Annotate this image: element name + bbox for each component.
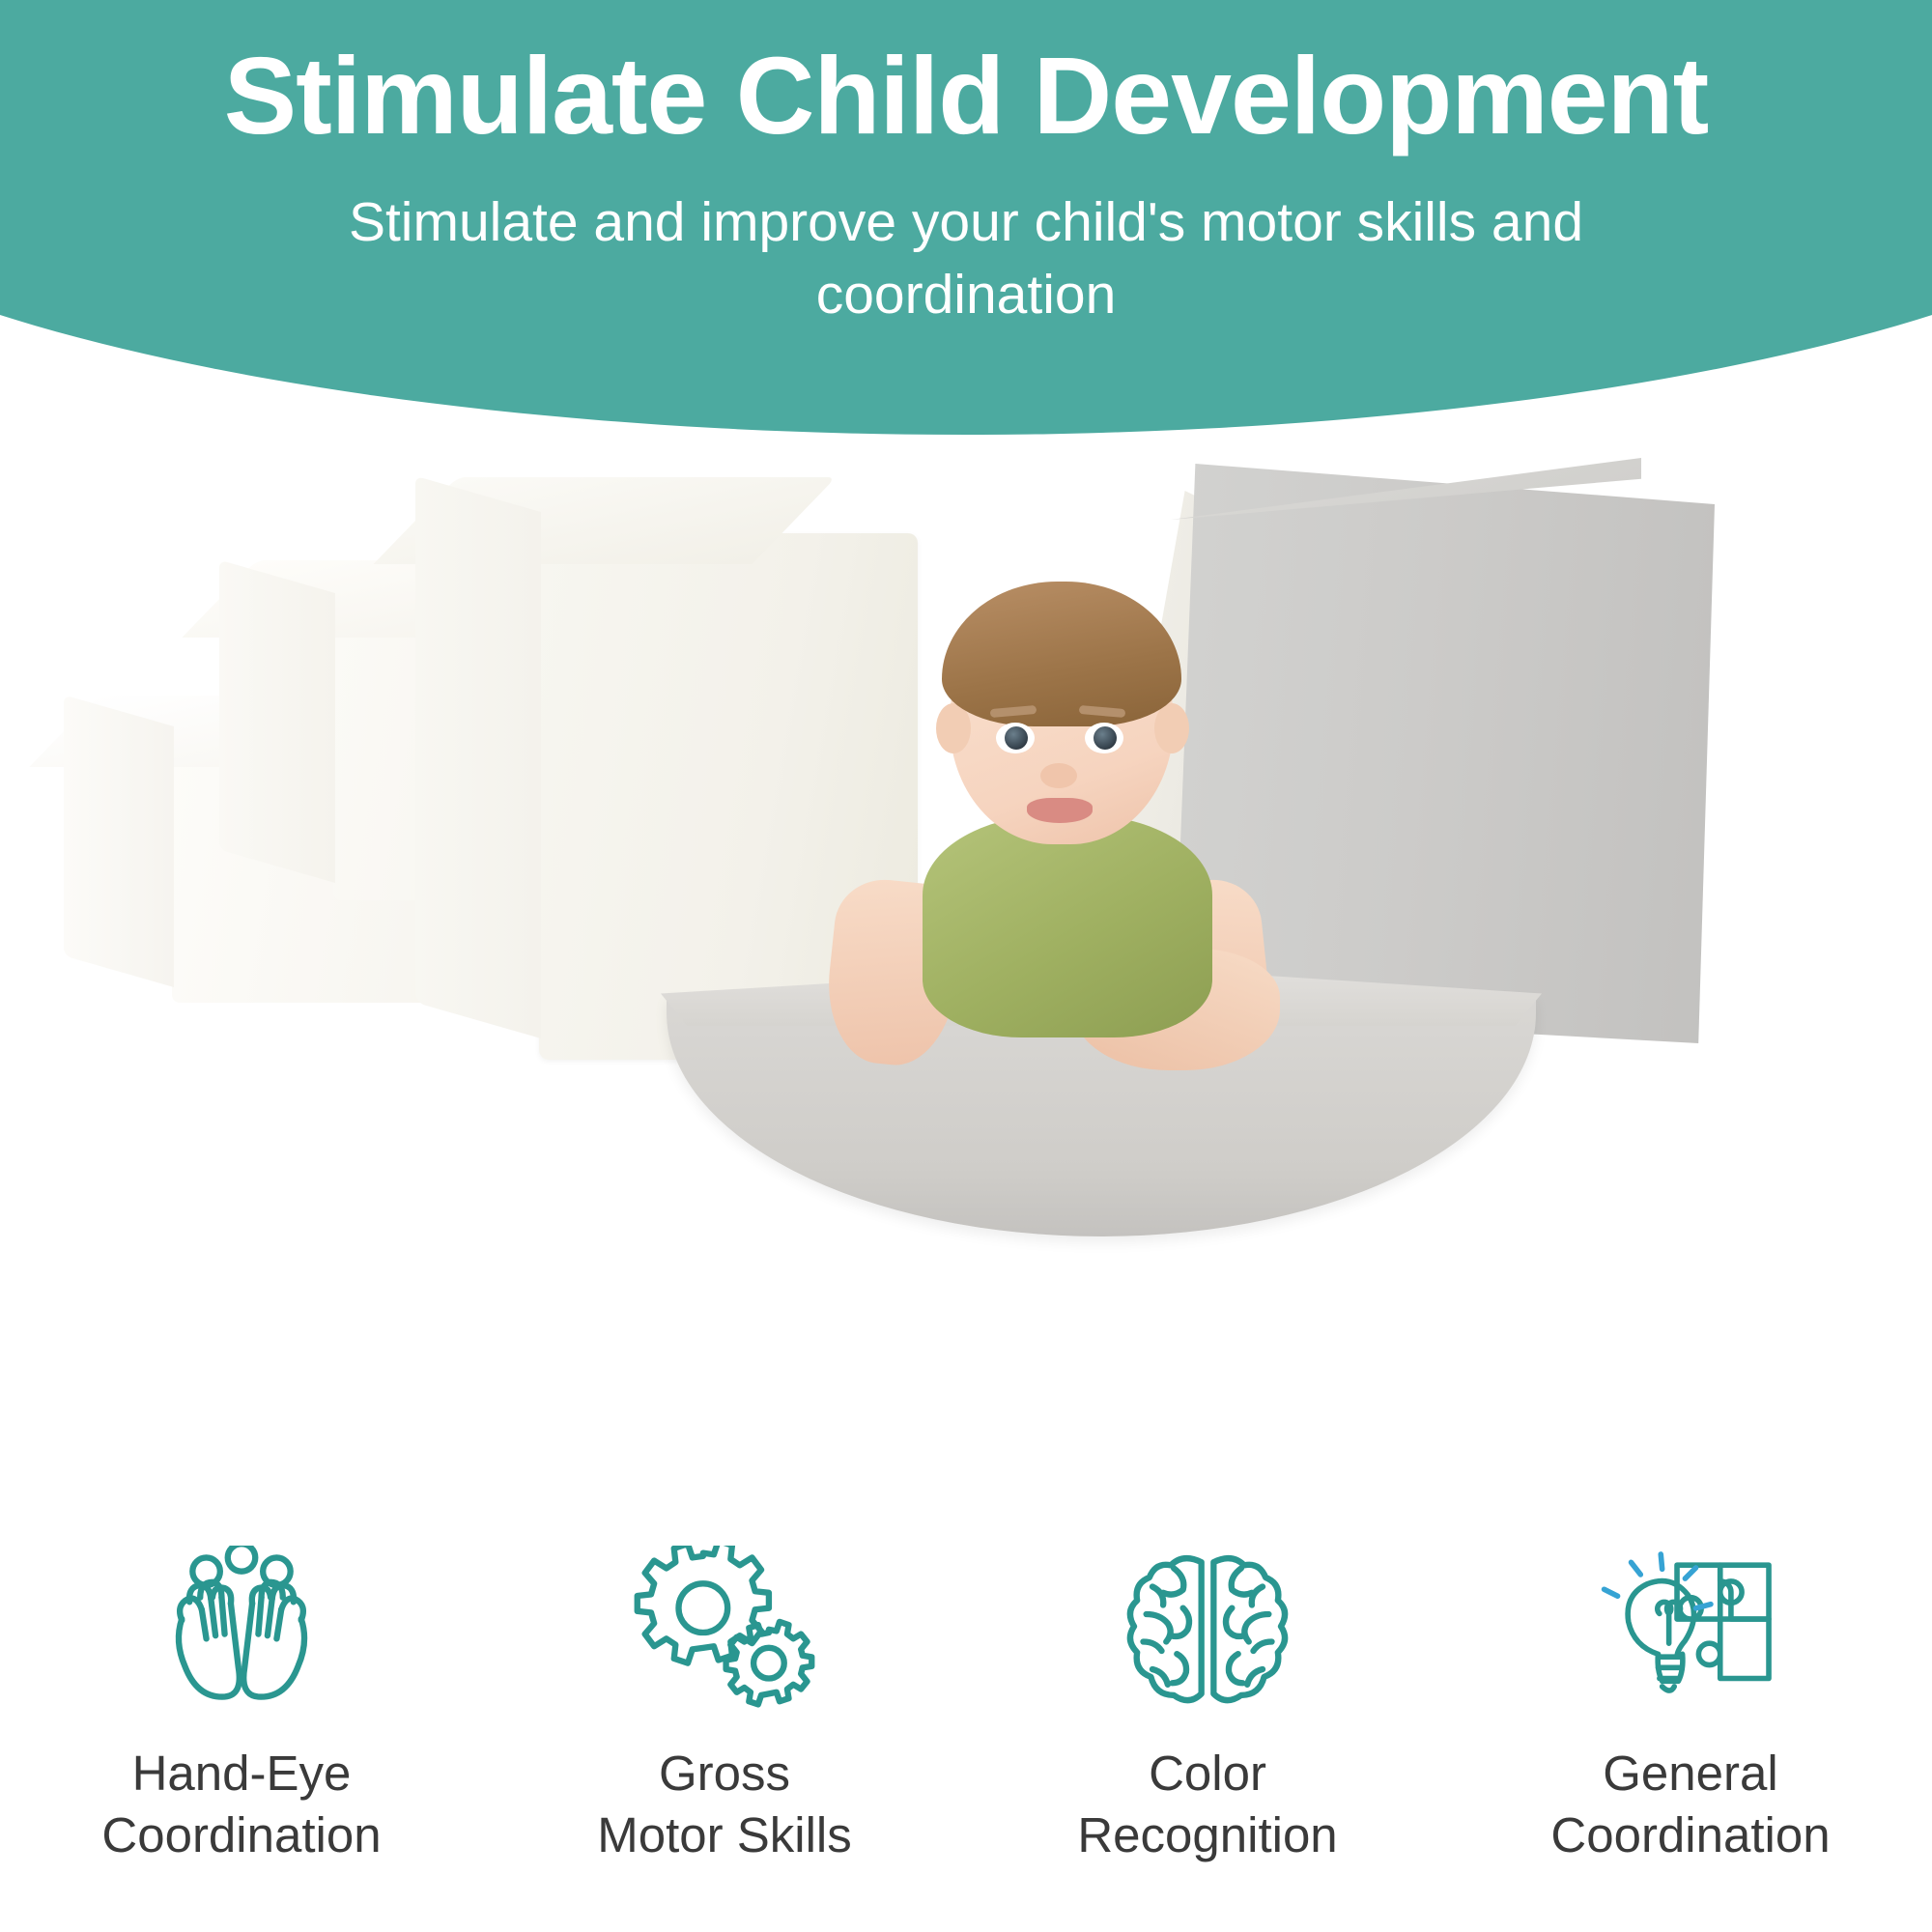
- page-title: Stimulate Child Development: [0, 33, 1932, 159]
- lightbulb-puzzle-icon: [1599, 1546, 1782, 1719]
- infographic-canvas: Stimulate Child Development Stimulate an…: [0, 0, 1932, 1932]
- benefit-item-color-recognition: Color Recognition: [966, 1546, 1449, 1932]
- benefit-label: Hand-Eye Coordination: [101, 1743, 381, 1867]
- baby-nose: [1040, 763, 1077, 788]
- brain-icon: [1116, 1546, 1299, 1719]
- header-text-block: Stimulate Child Development Stimulate an…: [0, 0, 1932, 332]
- baby-eye-right: [1085, 723, 1123, 753]
- baby-figure: [836, 591, 1290, 1103]
- baby-body: [923, 815, 1212, 1037]
- benefits-row: Hand-Eye Coordination Gross Motor Skills: [0, 1546, 1932, 1932]
- benefit-label: Color Recognition: [1077, 1743, 1337, 1867]
- benefit-item-gross-motor-skills: Gross Motor Skills: [483, 1546, 966, 1932]
- product-photo: [0, 386, 1932, 1507]
- baby-ear-right: [1154, 703, 1189, 753]
- benefit-label: Gross Motor Skills: [597, 1743, 852, 1867]
- clapping-hands-icon: [150, 1546, 333, 1719]
- benefit-item-general-coordination: General Coordination: [1449, 1546, 1932, 1932]
- baby-mouth: [1027, 798, 1093, 823]
- benefit-item-hand-eye-coordination: Hand-Eye Coordination: [0, 1546, 483, 1932]
- page-subtitle: Stimulate and improve your child's motor…: [0, 186, 1932, 331]
- baby-eye-left: [996, 723, 1035, 753]
- gears-icon: [633, 1546, 816, 1719]
- benefit-label: General Coordination: [1550, 1743, 1830, 1867]
- baby-hair: [942, 582, 1181, 726]
